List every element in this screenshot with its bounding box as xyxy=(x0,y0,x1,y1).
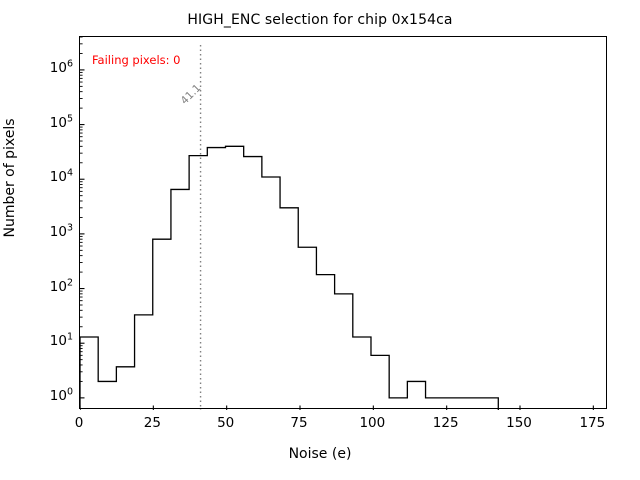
histogram-svg xyxy=(80,37,608,410)
histogram-step-line xyxy=(80,146,498,410)
x-tick-label: 125 xyxy=(416,415,476,431)
failing-pixels-annotation: Failing pixels: 0 xyxy=(92,53,181,67)
y-tick-label: 101 xyxy=(27,333,73,349)
x-tick-label: 75 xyxy=(269,415,329,431)
plot-area: Failing pixels: 0 41.1 xyxy=(79,36,607,409)
y-tick-label: 104 xyxy=(27,169,73,185)
x-axis-label: Noise (e) xyxy=(0,446,640,462)
x-tick-label: 0 xyxy=(49,415,109,431)
y-tick-label: 100 xyxy=(27,388,73,404)
y-tick-label: 105 xyxy=(27,115,73,131)
x-tick-label: 150 xyxy=(489,415,549,431)
y-tick-label: 106 xyxy=(27,60,73,76)
figure-canvas: HIGH_ENC selection for chip 0x154ca Fail… xyxy=(0,0,640,480)
y-tick-label: 103 xyxy=(27,224,73,240)
x-tick-label: 100 xyxy=(342,415,402,431)
y-axis-label: Number of pixels xyxy=(2,0,18,388)
x-tick-label: 25 xyxy=(122,415,182,431)
x-tick-label: 50 xyxy=(196,415,256,431)
page-title: HIGH_ENC selection for chip 0x154ca xyxy=(0,12,640,28)
y-tick-label: 102 xyxy=(27,279,73,295)
x-tick-label: 175 xyxy=(562,415,622,431)
